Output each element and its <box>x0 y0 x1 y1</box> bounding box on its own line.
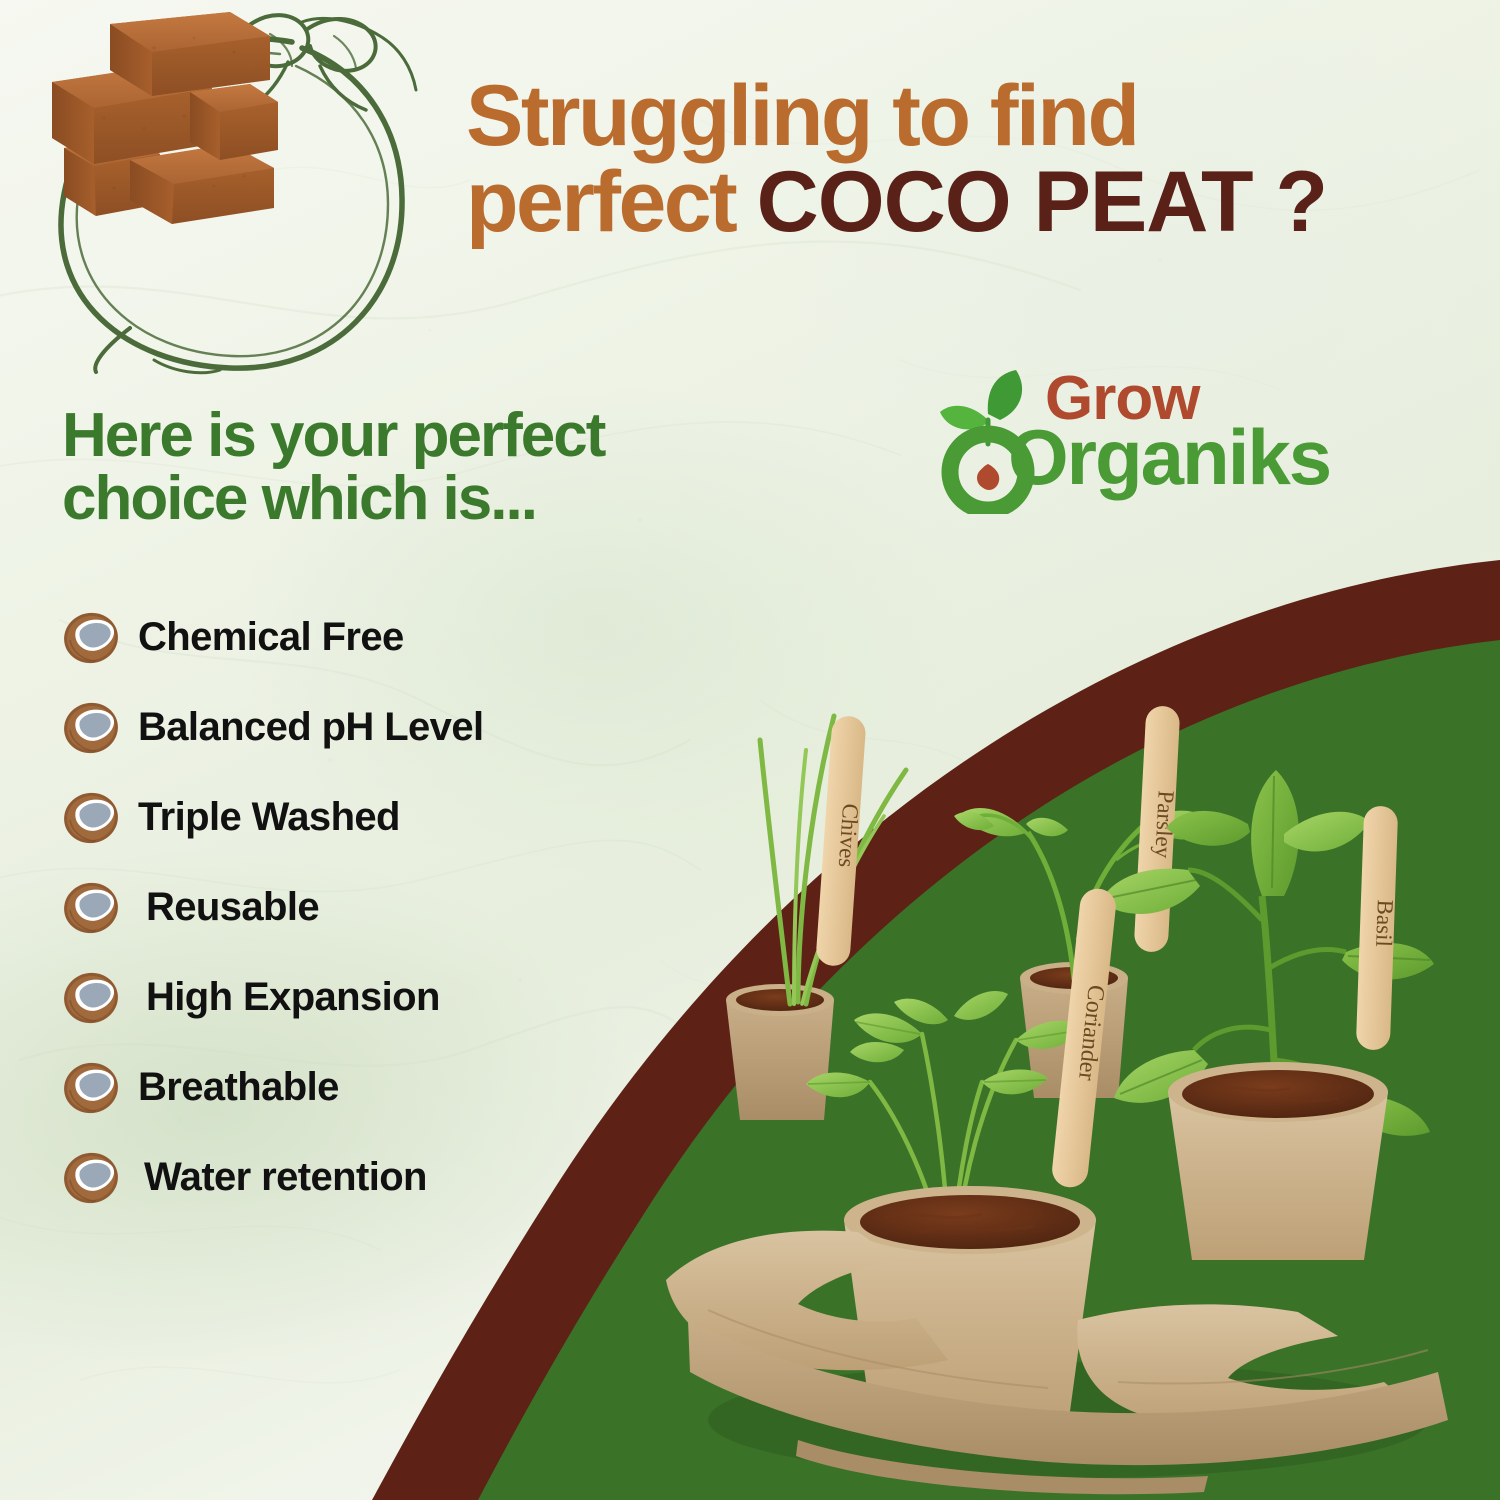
list-item[interactable]: Triple Washed <box>60 772 660 862</box>
coconut-half-icon <box>60 1146 122 1208</box>
coconut-half-icon <box>60 876 122 938</box>
pot-basil <box>1168 1062 1388 1260</box>
list-item[interactable]: Water retention <box>60 1132 660 1222</box>
list-item-label: High Expansion <box>146 975 440 1020</box>
pot-chives <box>726 984 834 1120</box>
headline-line-2: perfect COCO PEAT ? <box>466 160 1476 244</box>
plant-label-text: Chives <box>834 803 863 869</box>
list-item[interactable]: Chemical Free <box>60 592 660 682</box>
list-item-label: Triple Washed <box>138 795 400 840</box>
list-item-label: Reusable <box>146 885 319 930</box>
feature-list: Chemical Free Balanced pH Level Triple W… <box>60 592 660 1222</box>
plant-label-text: Basil <box>1371 899 1398 947</box>
list-item[interactable]: Balanced pH Level <box>60 682 660 772</box>
coconut-half-icon <box>60 966 122 1028</box>
coconut-half-icon <box>60 696 122 758</box>
subheading-line-2: choice which is... <box>62 467 822 530</box>
headline-line-2-orange: perfect <box>466 154 757 250</box>
coconut-half-icon <box>60 606 122 668</box>
seedling-tray-photo: Chives Parsley <box>648 620 1500 1500</box>
list-item-label: Breathable <box>138 1065 339 1110</box>
list-item[interactable]: High Expansion <box>60 952 660 1042</box>
headline-line-2-dark: COCO PEAT ? <box>757 154 1327 250</box>
headline: Struggling to find perfect COCO PEAT ? <box>466 74 1476 245</box>
logo-text-organiks: Organiks <box>1008 418 1330 496</box>
list-item[interactable]: Reusable <box>60 862 660 952</box>
list-item-label: Chemical Free <box>138 615 404 660</box>
plant-label-basil: Basil <box>1356 805 1398 1050</box>
brand-logo: Grow Organiks <box>930 362 1350 522</box>
poster-canvas: Struggling to find perfect COCO PEAT ? H… <box>0 0 1500 1500</box>
subheading-line-1: Here is your perfect <box>62 404 822 467</box>
subheading: Here is your perfect choice which is... <box>62 404 822 530</box>
coco-peat-badge <box>34 8 424 380</box>
coconut-half-icon <box>60 1056 122 1118</box>
list-item[interactable]: Breathable <box>60 1042 660 1132</box>
list-item-label: Balanced pH Level <box>138 705 483 750</box>
coconut-half-icon <box>60 786 122 848</box>
list-item-label: Water retention <box>144 1155 427 1200</box>
headline-line-1: Struggling to find <box>466 74 1476 158</box>
coco-peat-bricks-icon <box>34 8 310 233</box>
